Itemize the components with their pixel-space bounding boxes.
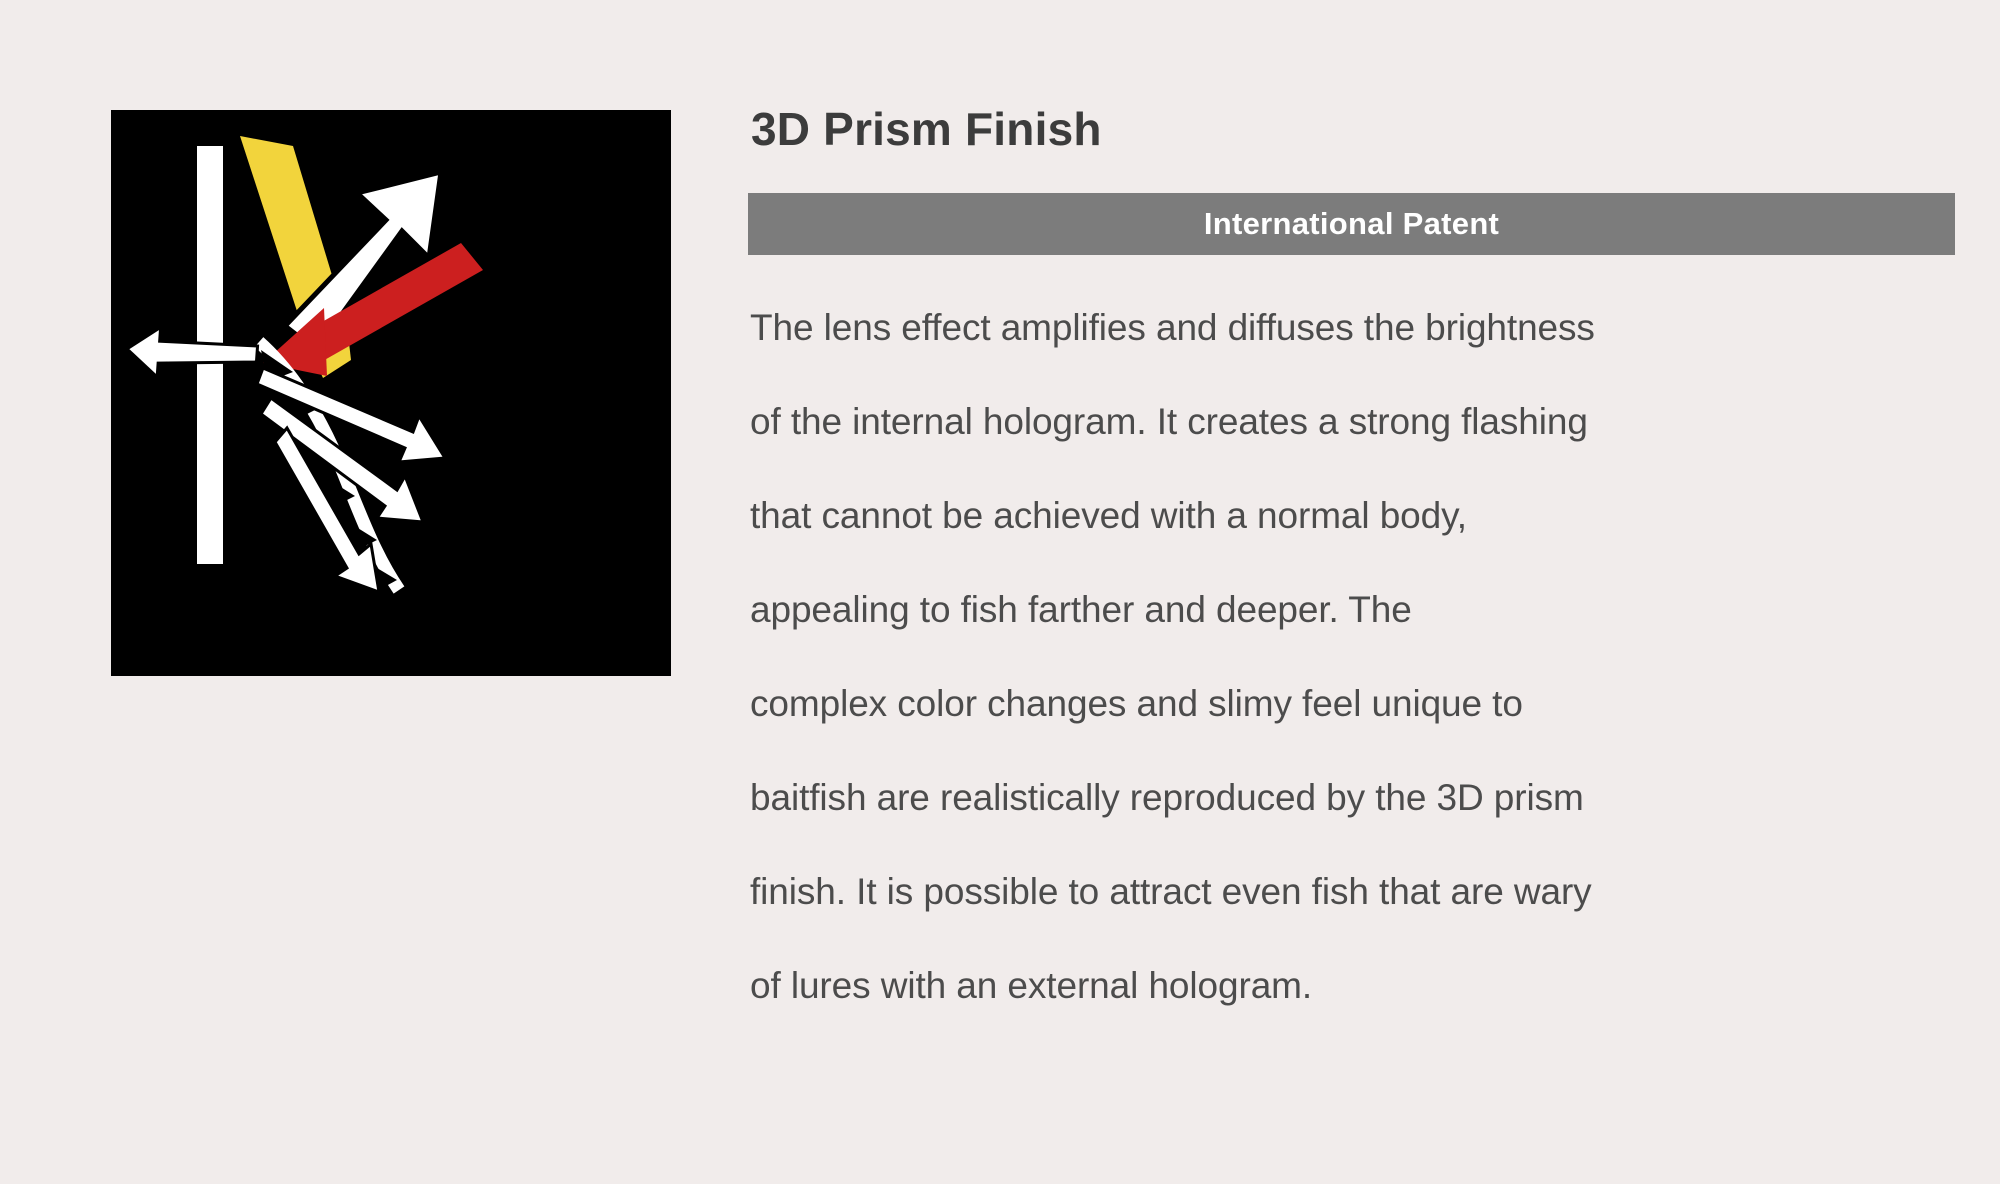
- feature-description: The lens effect amplifies and diffuses t…: [748, 281, 1958, 1033]
- description-line: appealing to fish farther and deeper. Th…: [750, 563, 1958, 657]
- description-line: The lens effect amplifies and diffuses t…: [750, 281, 1958, 375]
- description-line: of the internal hologram. It creates a s…: [750, 375, 1958, 469]
- international-patent-banner: International Patent: [748, 193, 1955, 255]
- page-title: 3D Prism Finish: [748, 104, 1958, 155]
- description-line: complex color changes and slimy feel uni…: [750, 657, 1958, 751]
- feature-text-column: 3D Prism Finish International Patent The…: [748, 104, 1958, 1033]
- description-line: of lures with an external hologram.: [750, 939, 1958, 1033]
- description-line: baitfish are realistically reproduced by…: [750, 751, 1958, 845]
- prism-light-refraction-diagram: [111, 110, 671, 676]
- description-line: finish. It is possible to attract even f…: [750, 845, 1958, 939]
- description-line: that cannot be achieved with a normal bo…: [750, 469, 1958, 563]
- product-feature-panel: 3D Prism Finish International Patent The…: [0, 0, 2000, 1184]
- banner-label: International Patent: [1204, 206, 1499, 242]
